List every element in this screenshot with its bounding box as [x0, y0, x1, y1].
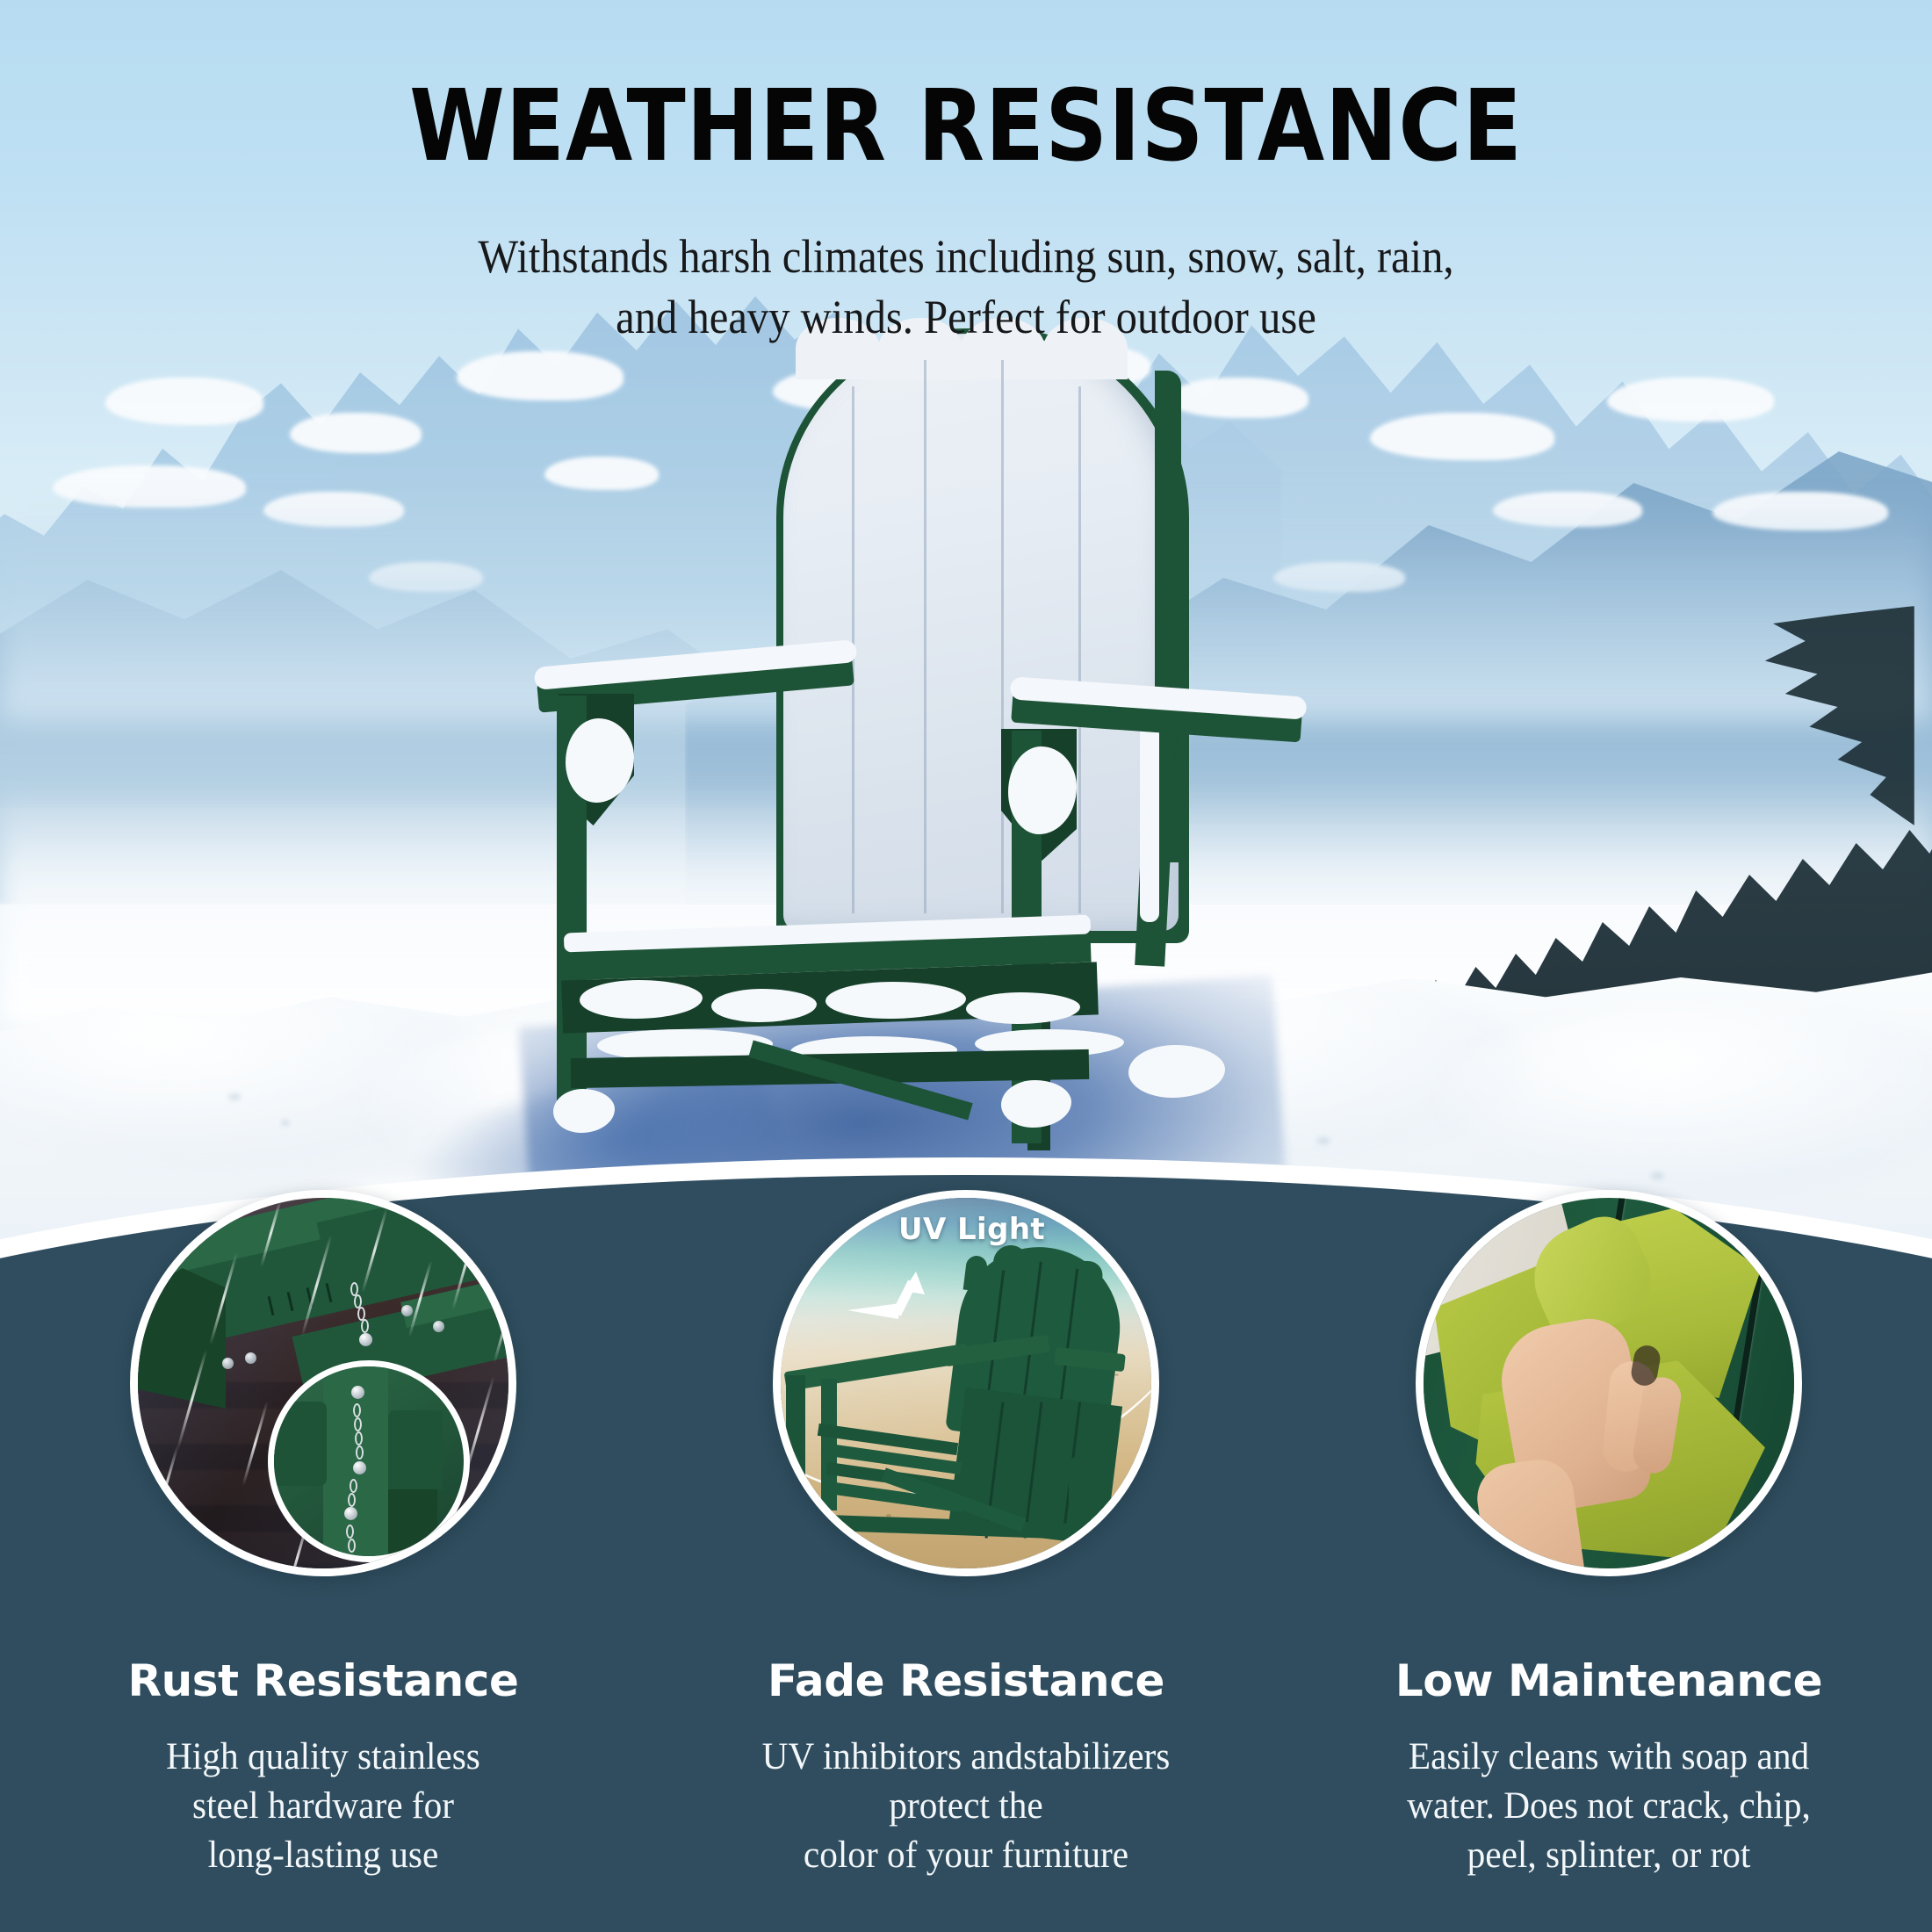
arm-bracket-snow: [566, 718, 634, 803]
feature-card-low-maintenance: Low Maintenance Easily cleans with soap …: [1293, 1655, 1925, 1880]
backrest-slat-line: [1078, 386, 1081, 913]
chain-link: [356, 1445, 364, 1460]
chain-link: [361, 1319, 369, 1333]
snow-dimple: [228, 1093, 241, 1100]
chain-link: [353, 1403, 361, 1417]
hardware-detail-inset: [268, 1360, 470, 1562]
support-snow: [1140, 703, 1159, 922]
screw: [1734, 1236, 1746, 1248]
uv-light-label: UV Light: [898, 1212, 1045, 1247]
chain-link: [354, 1417, 362, 1431]
screw: [245, 1352, 256, 1364]
snow-cap: [290, 413, 422, 453]
chair-backrest-snow: [783, 334, 1179, 931]
feature-heading: Low Maintenance: [1293, 1655, 1925, 1706]
screw: [401, 1305, 413, 1316]
chain-link: [350, 1479, 357, 1493]
chain-ball: [344, 1507, 357, 1520]
snow-dimple: [1317, 1137, 1330, 1144]
hero-product-chair: [615, 439, 1282, 1142]
snow-cap: [105, 378, 263, 425]
chain-link: [355, 1431, 363, 1445]
feature-image-fade-resistance: UV Light: [773, 1190, 1159, 1576]
feature-heading: Fade Resistance: [650, 1655, 1282, 1706]
feature-body-line-2: protect the: [889, 1785, 1042, 1827]
snow-mound: [1440, 1006, 1932, 1190]
feature-body-line-2: steel hardware for: [192, 1785, 454, 1827]
chain-ball: [353, 1461, 366, 1474]
feature-heading: Rust Resistance: [7, 1655, 639, 1706]
feature-body-line-1: UV inhibitors andstabilizers: [762, 1736, 1171, 1777]
feature-body: High quality stainless steel hardware fo…: [19, 1733, 626, 1880]
seat-snow-blob: [966, 992, 1080, 1024]
page-title: WEATHER RESISTANCE: [116, 77, 1816, 176]
snow-dimple: [1651, 1172, 1664, 1179]
leg-snow: [1001, 1080, 1071, 1128]
feature-body-line-2: water. Does not crack, chip,: [1407, 1785, 1811, 1827]
chain-ball: [351, 1386, 364, 1399]
feature-body-line-1: Easily cleans with soap and: [1409, 1736, 1809, 1777]
feature-body: Easily cleans with soap and water. Does …: [1305, 1733, 1912, 1880]
subtitle-line-2: and heavy winds. Perfect for outdoor use: [334, 287, 1598, 348]
feature-body-line-1: High quality stainless: [166, 1736, 480, 1777]
feature-body-line-3: long-lasting use: [208, 1835, 439, 1876]
backrest-slat-line: [924, 360, 926, 913]
feature-body: UV inhibitors andstabilizers protect the…: [662, 1733, 1269, 1880]
page-subtitle: Withstands harsh climates including sun,…: [334, 227, 1598, 348]
feature-card-rust-resistance: Rust Resistance High quality stainless s…: [7, 1655, 639, 1880]
screw: [222, 1358, 234, 1369]
chain-link: [348, 1493, 356, 1507]
snow-cap: [1168, 378, 1308, 418]
subtitle-line-1: Withstands harsh climates including sun,…: [334, 227, 1598, 287]
chain-ball: [359, 1333, 372, 1346]
snow-cap: [457, 351, 624, 400]
snow-dimple: [281, 1120, 290, 1126]
infographic-canvas: WEATHER RESISTANCE Withstands harsh clim…: [0, 0, 1932, 1932]
snow-cap: [1370, 413, 1554, 460]
feature-body-line-3: peel, splinter, or rot: [1467, 1835, 1751, 1876]
chain-link: [348, 1539, 356, 1553]
snow-cap: [1607, 378, 1774, 422]
backrest-slat-line: [1001, 360, 1004, 913]
feature-image-low-maintenance: [1416, 1190, 1802, 1576]
feature-image-rust-resistance: [130, 1190, 516, 1576]
feature-body-line-3: color of your furniture: [804, 1835, 1128, 1876]
screw: [433, 1321, 444, 1332]
feature-card-fade-resistance: Fade Resistance UV inhibitors andstabili…: [650, 1655, 1282, 1880]
beach-chair: [853, 1247, 1143, 1572]
chain-link: [346, 1525, 354, 1539]
leg-snow: [1128, 1045, 1225, 1098]
